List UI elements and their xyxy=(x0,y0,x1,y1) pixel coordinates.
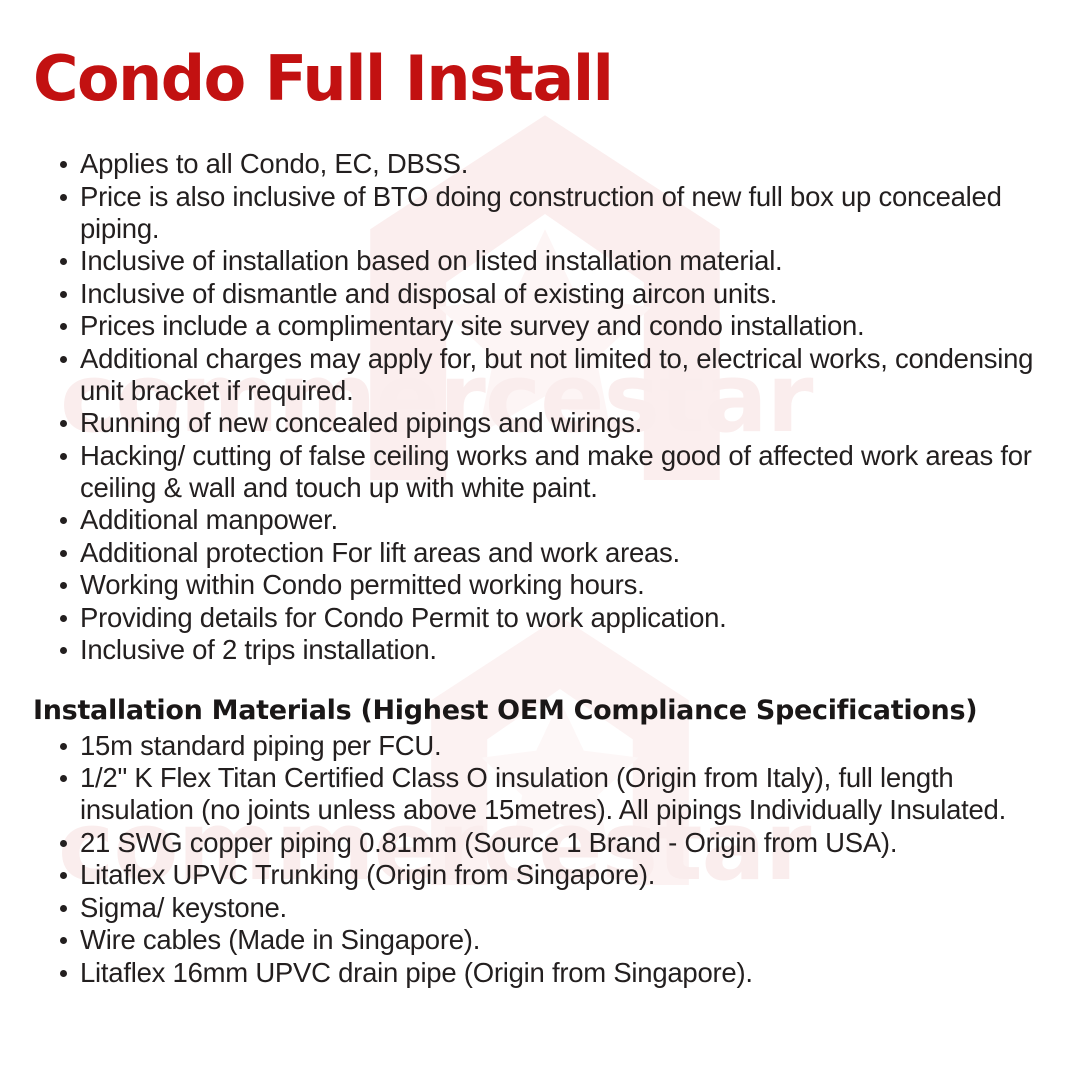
list-item: Inclusive of 2 trips installation. xyxy=(0,634,1060,666)
list-item: Working within Condo permitted working h… xyxy=(0,569,1060,601)
list-item-label: Running of new concealed pipings and wir… xyxy=(80,407,1060,439)
bullet-dot-icon xyxy=(60,291,67,298)
list-item-label: Sigma/ keystone. xyxy=(80,892,1060,924)
bullet-dot-icon xyxy=(60,420,67,427)
main-bullet-list: Applies to all Condo, EC, DBSS.Price is … xyxy=(0,148,1060,666)
list-item: Inclusive of dismantle and disposal of e… xyxy=(0,278,1060,310)
bullet-dot-icon xyxy=(60,194,67,201)
list-item: 1/2" K Flex Titan Certified Class O insu… xyxy=(0,762,1060,826)
list-item-label: Additional charges may apply for, but no… xyxy=(80,343,1060,407)
list-item-label: Inclusive of installation based on liste… xyxy=(80,245,1060,277)
bullet-dot-icon xyxy=(60,323,67,330)
materials-section: Installation Materials (Highest OEM Comp… xyxy=(0,694,1060,989)
list-item-label: Inclusive of 2 trips installation. xyxy=(80,634,1060,666)
list-item-label: Additional manpower. xyxy=(80,504,1060,536)
list-item: Prices include a complimentary site surv… xyxy=(0,310,1060,342)
list-item-label: Litaflex UPVC Trunking (Origin from Sing… xyxy=(80,859,1060,891)
bullet-dot-icon xyxy=(60,937,67,944)
bullet-dot-icon xyxy=(60,872,67,879)
list-item: Sigma/ keystone. xyxy=(0,892,1060,924)
list-item: Providing details for Condo Permit to wo… xyxy=(0,602,1060,634)
bullet-dot-icon xyxy=(60,356,67,363)
page-title: Condo Full Install xyxy=(33,46,612,111)
list-item: Hacking/ cutting of false ceiling works … xyxy=(0,440,1060,504)
bullet-dot-icon xyxy=(60,582,67,589)
installation-materials-heading: Installation Materials (Highest OEM Comp… xyxy=(33,694,1060,728)
list-item: Inclusive of installation based on liste… xyxy=(0,245,1060,277)
list-item-label: Hacking/ cutting of false ceiling works … xyxy=(80,440,1060,504)
bullet-dot-icon xyxy=(60,615,67,622)
list-item-label: Wire cables (Made in Singapore). xyxy=(80,924,1060,956)
bullet-dot-icon xyxy=(60,517,67,524)
bullet-dot-icon xyxy=(60,905,67,912)
list-item-label: Working within Condo permitted working h… xyxy=(80,569,1060,601)
list-item: Wire cables (Made in Singapore). xyxy=(0,924,1060,956)
list-item-label: 21 SWG copper piping 0.81mm (Source 1 Br… xyxy=(80,827,1060,859)
list-item: 21 SWG copper piping 0.81mm (Source 1 Br… xyxy=(0,827,1060,859)
list-item: Litaflex UPVC Trunking (Origin from Sing… xyxy=(0,859,1060,891)
bullet-dot-icon xyxy=(60,161,67,168)
list-item: Price is also inclusive of BTO doing con… xyxy=(0,181,1060,245)
list-item: Additional manpower. xyxy=(0,504,1060,536)
list-item-label: Price is also inclusive of BTO doing con… xyxy=(80,181,1060,245)
main-list-section: Applies to all Condo, EC, DBSS.Price is … xyxy=(0,148,1060,667)
list-item: Running of new concealed pipings and wir… xyxy=(0,407,1060,439)
list-item: Additional charges may apply for, but no… xyxy=(0,343,1060,407)
list-item: Applies to all Condo, EC, DBSS. xyxy=(0,148,1060,180)
bullet-dot-icon xyxy=(60,647,67,654)
list-item-label: 1/2" K Flex Titan Certified Class O insu… xyxy=(80,762,1060,826)
list-item-label: Applies to all Condo, EC, DBSS. xyxy=(80,148,1060,180)
list-item-label: Providing details for Condo Permit to wo… xyxy=(80,602,1060,634)
materials-bullet-list: 15m standard piping per FCU.1/2" K Flex … xyxy=(0,730,1060,989)
list-item-label: 15m standard piping per FCU. xyxy=(80,730,1060,762)
list-item: Additional protection For lift areas and… xyxy=(0,537,1060,569)
bullet-dot-icon xyxy=(60,743,67,750)
bullet-dot-icon xyxy=(60,840,67,847)
bullet-dot-icon xyxy=(60,453,67,460)
bullet-dot-icon xyxy=(60,258,67,265)
bullet-dot-icon xyxy=(60,550,67,557)
list-item-label: Additional protection For lift areas and… xyxy=(80,537,1060,569)
bullet-dot-icon xyxy=(60,970,67,977)
list-item: 15m standard piping per FCU. xyxy=(0,730,1060,762)
list-item-label: Litaflex 16mm UPVC drain pipe (Origin fr… xyxy=(80,957,1060,989)
list-item-label: Inclusive of dismantle and disposal of e… xyxy=(80,278,1060,310)
list-item: Litaflex 16mm UPVC drain pipe (Origin fr… xyxy=(0,957,1060,989)
bullet-dot-icon xyxy=(60,775,67,782)
list-item-label: Prices include a complimentary site surv… xyxy=(80,310,1060,342)
